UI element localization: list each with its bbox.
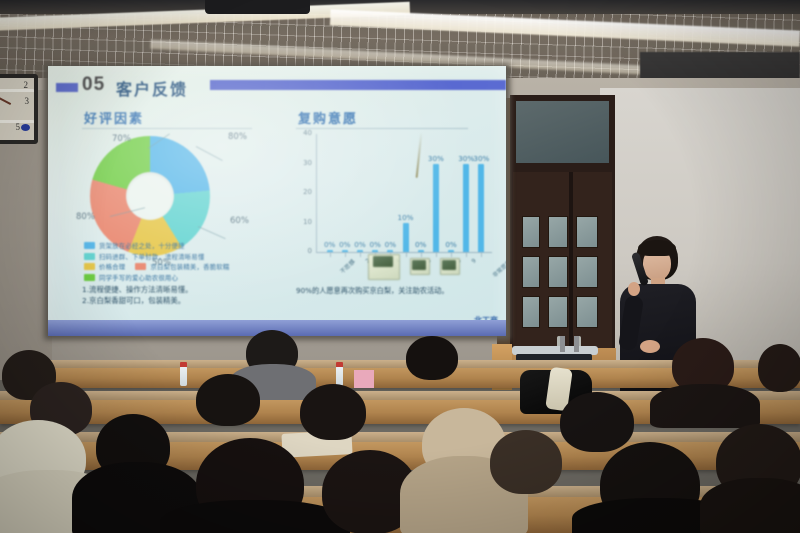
photo-scene: 2 3 5 6 05 客户反馈 好评因素	[0, 0, 800, 533]
mic-stand	[574, 336, 579, 352]
clock-number: 2	[24, 80, 29, 90]
glare-patch-dark	[373, 256, 393, 267]
door-pane	[576, 256, 598, 288]
x-tick	[345, 253, 346, 257]
donut-label-60: 60%	[230, 216, 249, 226]
mic-stand	[560, 336, 565, 352]
audience-head	[300, 384, 366, 440]
slide-note-2: 2.京白梨香甜可口，包装精美。	[82, 295, 193, 306]
door-pane	[522, 216, 540, 248]
door-pane	[576, 296, 598, 328]
donut-hole	[126, 172, 174, 220]
y-tick-label: 40	[294, 129, 312, 137]
audience-head	[490, 430, 562, 494]
bar-value-label: 30%	[458, 154, 474, 163]
legend-item: 货架放在必经之处，十分便捷	[84, 241, 314, 250]
legend-item: 同学手写的爱心助农很用心	[84, 273, 314, 282]
y-tick-label: 20	[294, 188, 312, 196]
audience-shoulders	[160, 500, 350, 533]
x-tick	[330, 253, 331, 257]
bar-chart-annotation: 90%的人愿意再次购买京白梨，关注助农活动。	[296, 286, 449, 296]
bar	[372, 250, 378, 253]
bar	[448, 250, 454, 253]
door-pane	[522, 256, 540, 288]
glare-patch-dark	[442, 260, 456, 270]
donut-chart	[90, 136, 210, 256]
audience-head	[406, 336, 458, 380]
x-tick	[406, 253, 407, 257]
door-pane	[548, 256, 568, 288]
bar-value-label: 0%	[339, 240, 350, 249]
legend-swatch-icon	[84, 274, 95, 281]
clock-number: 3	[25, 96, 30, 106]
slide-title: 客户反馈	[116, 76, 188, 100]
donut-label-70: 70%	[112, 134, 131, 144]
x-tick	[421, 253, 422, 257]
presenter-fringe	[638, 240, 676, 256]
audience-head	[758, 344, 800, 392]
x-tick	[360, 253, 361, 257]
legend-label: 扫码进群、下单付款，流程清晰易懂	[99, 252, 204, 261]
door-split	[569, 172, 573, 360]
bar-value-label: 30%	[473, 154, 489, 163]
audience-head	[560, 392, 634, 452]
bar	[342, 250, 348, 253]
door-pane	[548, 216, 568, 248]
legend-swatch-icon	[84, 253, 95, 260]
door-transom-glass	[516, 101, 609, 163]
x-tick	[451, 253, 452, 257]
header-bar	[210, 80, 506, 90]
bar	[418, 250, 424, 253]
x-tick	[481, 253, 482, 257]
slide-section-number: 05	[82, 74, 105, 96]
bar-value-label: 0%	[369, 240, 380, 249]
legend-item: 扫码进群、下单付款，流程清晰易懂	[84, 252, 314, 261]
bar-value-label: 0%	[445, 240, 456, 249]
bar	[357, 250, 363, 253]
audience-shoulders	[700, 478, 800, 533]
presenter-hand	[640, 340, 660, 353]
donut-label-80b: 80%	[76, 212, 95, 222]
glare-patch-dark	[412, 260, 426, 270]
slide-note-1: 1.流程便捷、操作方法清晰易懂。	[82, 284, 193, 295]
presenter-hand	[628, 282, 640, 296]
legend-item: 价格合理 京白梨包装精美，香脆软糯	[84, 262, 314, 271]
bar	[387, 250, 393, 253]
bar	[478, 164, 484, 253]
projection-screen: 05 客户反馈 好评因素 70% 80% 60% 80% 50%	[48, 66, 506, 334]
door-pane	[522, 296, 540, 328]
x-tick	[436, 253, 437, 257]
y-axis	[316, 134, 317, 252]
door-pane	[576, 216, 598, 248]
bar	[433, 164, 439, 253]
bottle-cap	[180, 362, 187, 367]
door-pane	[548, 296, 568, 328]
x-tick-label: 9	[471, 258, 478, 265]
y-tick-label: 30	[294, 159, 312, 167]
bar-value-label: 10%	[398, 213, 414, 222]
water-bottle	[180, 366, 187, 386]
x-tick-label: 非常愿意	[491, 258, 506, 279]
bar-value-label: 0%	[415, 240, 426, 249]
legend-swatch-icon	[84, 263, 95, 270]
x-tick	[466, 253, 467, 257]
bar-value-label: 0%	[354, 240, 365, 249]
donut-label-80a: 80%	[228, 132, 247, 142]
bar-value-label: 30%	[428, 154, 444, 163]
presentation-slide: 05 客户反馈 好评因素 70% 80% 60% 80% 50%	[48, 66, 506, 328]
audience-head	[196, 374, 260, 426]
wall-clock: 2 3 5 6	[0, 74, 38, 144]
donut-legend: 货架放在必经之处，十分便捷 扫码进群、下单付款，流程清晰易懂 价格合理 京白梨包…	[84, 241, 314, 283]
ceiling-projector	[205, 0, 310, 14]
pink-paper	[354, 370, 374, 388]
y-tick-label: 10	[294, 218, 312, 226]
bar	[327, 250, 333, 253]
y-tick-label: 0	[294, 247, 312, 255]
legend-swatch-icon	[84, 242, 95, 249]
bar-chart-title: 复购意愿	[298, 108, 358, 127]
bar	[403, 223, 409, 253]
bottle-cap	[336, 362, 343, 367]
bar-value-label: 0%	[324, 240, 335, 249]
bar	[463, 164, 469, 253]
clock-number: 5	[16, 122, 21, 132]
legend-label: 京白梨包装精美，香脆软糯	[150, 262, 229, 271]
legend-swatch-icon	[135, 263, 146, 270]
legend-label: 同学手写的爱心助农很用心	[99, 273, 178, 282]
bar-value-label: 0%	[385, 240, 396, 249]
donut-chart-title: 好评因素	[84, 108, 144, 127]
water-bottle	[336, 366, 343, 386]
header-accent-tab	[56, 83, 78, 92]
audience-shoulders	[650, 384, 760, 428]
slide-notes: 1.流程便捷、操作方法清晰易懂。 2.京白梨香甜可口，包装精美。	[82, 284, 193, 307]
donut-title-rule	[82, 128, 252, 129]
legend-label: 货架放在必经之处，十分便捷	[99, 241, 185, 250]
legend-label: 价格合理	[99, 262, 125, 271]
